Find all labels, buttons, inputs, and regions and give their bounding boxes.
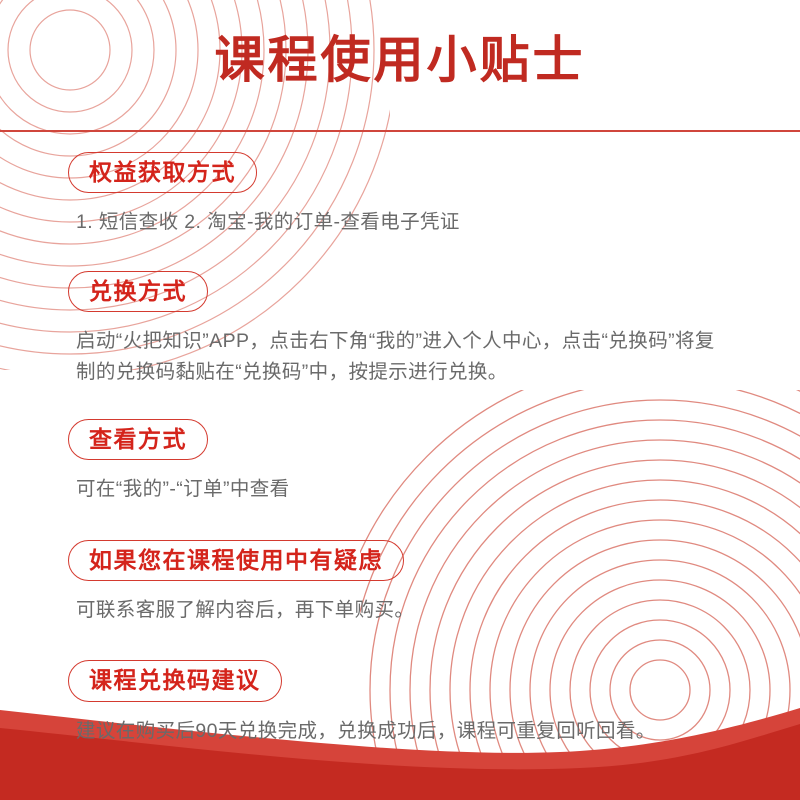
section-body-doubts: 可联系客服了解内容后，再下单购买。	[0, 595, 800, 627]
badge-row: 如果您在课程使用中有疑虑	[0, 540, 800, 581]
section-badge-redeem-method: 兑换方式	[68, 271, 208, 312]
top-rule-decoration	[0, 130, 800, 132]
poster-canvas: 课程使用小贴士 权益获取方式 1. 短信查收 2. 淘宝-我的订单-查看电子凭证…	[0, 0, 800, 800]
section-body-view-method: 可在“我的”-“订单”中查看	[0, 474, 800, 506]
section-redeem-code-advice: 课程兑换码建议 建议在购买后90天兑换完成，兑换成功后，课程可重复回听回看。	[0, 660, 800, 747]
section-rights-acquisition: 权益获取方式 1. 短信查收 2. 淘宝-我的订单-查看电子凭证	[0, 152, 800, 239]
page-title-container: 课程使用小贴士	[0, 30, 800, 90]
section-badge-redeem-code-advice: 课程兑换码建议	[68, 660, 282, 701]
section-view-method: 查看方式 可在“我的”-“订单”中查看	[0, 419, 800, 506]
section-body-redeem-method: 启动“火把知识”APP，点击右下角“我的”进入个人中心，点击“兑换码”将复制的兑…	[0, 326, 800, 389]
badge-row: 权益获取方式	[0, 152, 800, 193]
tips-content: 权益获取方式 1. 短信查收 2. 淘宝-我的订单-查看电子凭证 兑换方式 启动…	[0, 152, 800, 747]
section-badge-rights-acquisition: 权益获取方式	[68, 152, 257, 193]
section-redeem-method: 兑换方式 启动“火把知识”APP，点击右下角“我的”进入个人中心，点击“兑换码”…	[0, 271, 800, 389]
section-badge-view-method: 查看方式	[68, 419, 208, 460]
page-title: 课程使用小贴士	[215, 30, 586, 90]
section-badge-doubts: 如果您在课程使用中有疑虑	[68, 540, 404, 581]
section-body-rights-acquisition: 1. 短信查收 2. 淘宝-我的订单-查看电子凭证	[0, 207, 800, 239]
section-body-redeem-code-advice: 建议在购买后90天兑换完成，兑换成功后，课程可重复回听回看。	[0, 716, 800, 748]
section-doubts: 如果您在课程使用中有疑虑 可联系客服了解内容后，再下单购买。	[0, 540, 800, 627]
badge-row: 兑换方式	[0, 271, 800, 312]
badge-row: 查看方式	[0, 419, 800, 460]
badge-row: 课程兑换码建议	[0, 660, 800, 701]
